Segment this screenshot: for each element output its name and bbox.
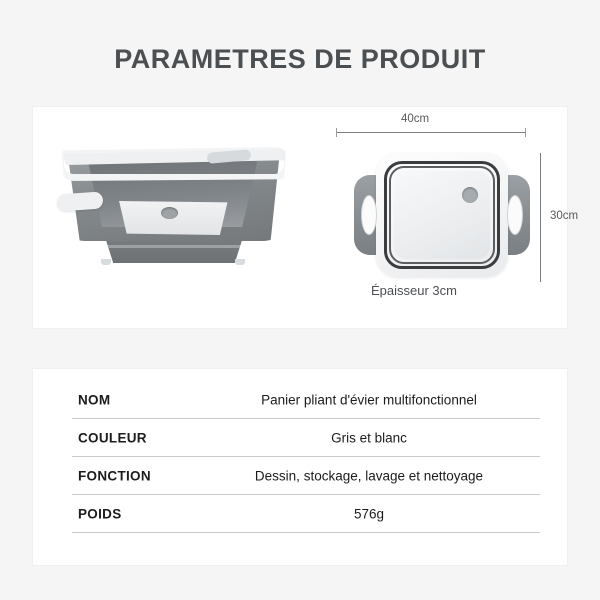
- dimension-tick-right: [525, 128, 526, 137]
- spec-value-couleur: Gris et blanc: [204, 430, 534, 445]
- dimension-label-board-width: 40cm: [401, 113, 429, 125]
- spec-label-couleur: COULEUR: [78, 430, 147, 445]
- handle-grip-hole: [361, 195, 377, 235]
- folded-board-illustration: [354, 153, 530, 277]
- dimension-tick-left: [336, 128, 337, 137]
- table-row: FONCTION Dessin, stockage, lavage et net…: [72, 457, 540, 495]
- table-row: POIDS 576g: [72, 495, 540, 533]
- board-hole-icon: [462, 187, 478, 203]
- handle-grip-hole: [507, 195, 523, 235]
- dimension-line-board-width: [336, 132, 526, 133]
- spec-label-fonction: FONCTION: [78, 468, 151, 483]
- board-cutting-surface: [394, 171, 490, 259]
- drain-hole-icon: [161, 207, 178, 219]
- basin-skirt-rib: [81, 245, 267, 248]
- product-image-card: 19.6cm 25cm 40cm 30cm Épaisseur 3cm: [33, 107, 567, 328]
- spec-label-poids: POIDS: [78, 506, 122, 521]
- specification-card: NOM Panier pliant d'évier multifonctionn…: [33, 369, 567, 565]
- spec-label-nom: NOM: [78, 392, 110, 407]
- expanded-basin-illustration: [53, 139, 295, 269]
- dimension-label-board-height: 30cm: [550, 210, 578, 222]
- left-product-panel: 19.6cm 25cm: [33, 107, 318, 328]
- specification-table: NOM Panier pliant d'évier multifonctionn…: [72, 381, 540, 533]
- basin-foot: [101, 259, 111, 265]
- page-title: PARAMETRES DE PRODUIT: [0, 44, 600, 75]
- basin-foot: [235, 259, 245, 265]
- right-product-panel: 40cm 30cm Épaisseur 3cm: [318, 107, 567, 328]
- spec-value-fonction: Dessin, stockage, lavage et nettoyage: [204, 468, 534, 483]
- dimension-line-board-height: [540, 153, 541, 282]
- thickness-label: Épaisseur 3cm: [371, 283, 457, 298]
- basin-left-handle: [56, 191, 103, 211]
- table-row: COULEUR Gris et blanc: [72, 419, 540, 457]
- spec-value-poids: 576g: [204, 506, 534, 521]
- table-row: NOM Panier pliant d'évier multifonctionn…: [72, 381, 540, 419]
- spec-value-nom: Panier pliant d'évier multifonctionnel: [204, 392, 534, 407]
